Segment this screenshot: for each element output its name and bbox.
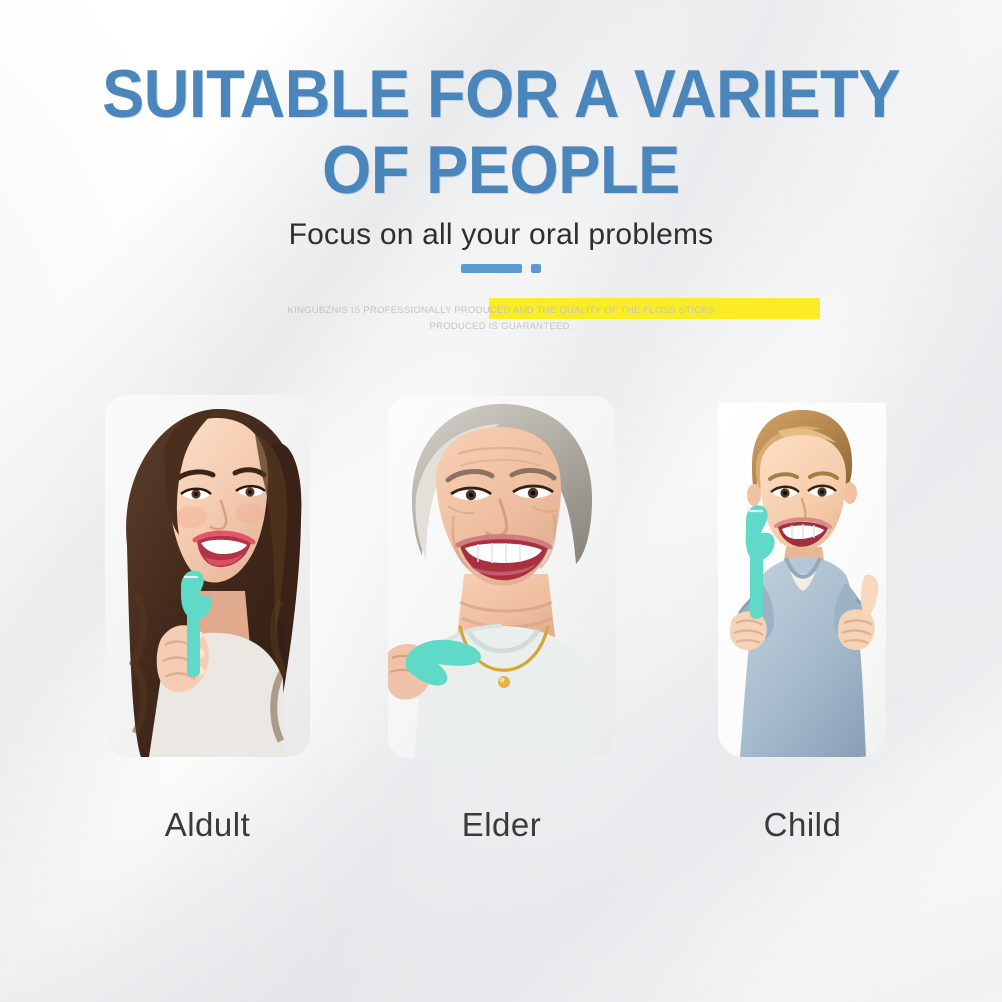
- photo-card-adult: [105, 395, 310, 757]
- photo-card-row: Aldult Elder Child: [0, 0, 1002, 1002]
- poster-canvas: SUITABLE FOR A VARIETY OF PEOPLE Focus o…: [0, 0, 1002, 1002]
- caption-adult: Aldult: [105, 806, 310, 844]
- photo-adult-woman: [105, 395, 310, 757]
- caption-elder: Elder: [388, 806, 615, 844]
- photo-card-elder: [388, 396, 615, 758]
- photo-card-child: [718, 403, 886, 757]
- photo-elder-woman: [388, 396, 615, 758]
- photo-child-boy: [718, 403, 886, 757]
- caption-child: Child: [700, 806, 905, 844]
